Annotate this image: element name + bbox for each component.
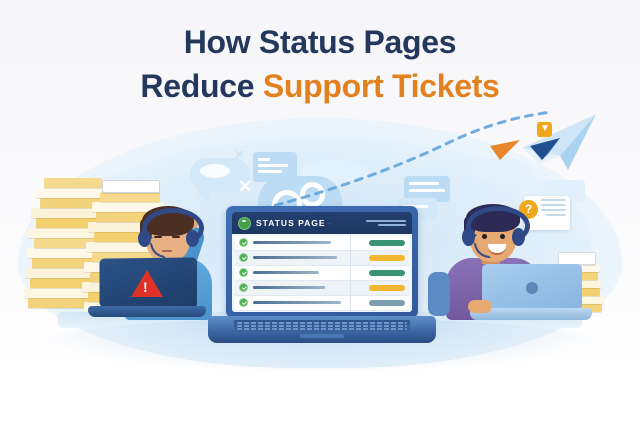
headset-earcup (138, 230, 151, 247)
laptop-base (208, 316, 436, 343)
title-line-1: How Status Pages (0, 22, 640, 62)
paper-sheet (44, 178, 102, 188)
status-page-screen: STATUS PAGE . (232, 212, 412, 312)
paper-sheet (36, 188, 106, 198)
headset-earcup (462, 228, 475, 246)
status-page-meta (364, 220, 406, 226)
service-name-placeholder (253, 286, 325, 289)
key-row (237, 325, 407, 327)
headset-earcup (186, 230, 199, 247)
status-badge (369, 240, 405, 247)
status-badge (369, 255, 405, 262)
service-name-placeholder (253, 301, 341, 304)
paper-plane-small-icon (528, 136, 562, 162)
service-name-placeholder (253, 271, 319, 274)
laptop-keyboard[interactable] (234, 320, 410, 332)
check-icon (239, 268, 248, 277)
status-page-header: STATUS PAGE . (232, 212, 412, 234)
service-name-placeholder (253, 241, 331, 244)
table-row[interactable] (235, 281, 409, 295)
agent-laptop (470, 264, 592, 322)
laptop-lid: STATUS PAGE . (226, 206, 418, 318)
table-row[interactable] (235, 251, 409, 265)
status-badge (369, 270, 405, 277)
agent-hand (468, 300, 492, 313)
laptop-base (88, 306, 206, 317)
check-icon (239, 298, 248, 307)
page-title: How Status Pages Reduce Support Tickets (0, 22, 640, 106)
title-line-2-plain: Reduce (140, 68, 262, 104)
warning-glyph: ! (143, 280, 148, 294)
title-line-2-accent: Support Tickets (263, 68, 500, 104)
paper-plane-orange-icon (488, 138, 522, 162)
check-icon (239, 238, 248, 247)
headset-earcup (512, 228, 525, 246)
service-name-placeholder (253, 256, 337, 259)
status-row-list (232, 234, 412, 310)
paper-sheet-labeled (102, 180, 160, 193)
status-page-title: STATUS PAGE (256, 218, 326, 228)
table-row[interactable] (235, 236, 409, 250)
plane-badge-glyph: ▼ (540, 123, 550, 134)
laptop-logo (526, 282, 538, 294)
key-row (237, 328, 407, 330)
status-page-laptop: STATUS PAGE . (208, 206, 436, 351)
agent-laptop-alert: ! (88, 258, 206, 320)
key-row (237, 322, 407, 324)
laptop-trackpad[interactable] (300, 334, 344, 338)
title-line-2: Reduce Support Tickets (0, 66, 640, 106)
cloud-icon (200, 164, 230, 178)
table-row[interactable] (235, 266, 409, 280)
illustration-canvas: ✕ ✕ ✕ ▼ (0, 0, 640, 427)
screen-column-divider (350, 234, 351, 312)
status-page-subtitle: . (329, 220, 331, 226)
status-badge (369, 300, 405, 307)
table-row[interactable] (235, 296, 409, 310)
status-badge (369, 285, 405, 292)
status-ok-icon (238, 217, 251, 230)
check-icon (239, 253, 248, 262)
check-icon (239, 283, 248, 292)
